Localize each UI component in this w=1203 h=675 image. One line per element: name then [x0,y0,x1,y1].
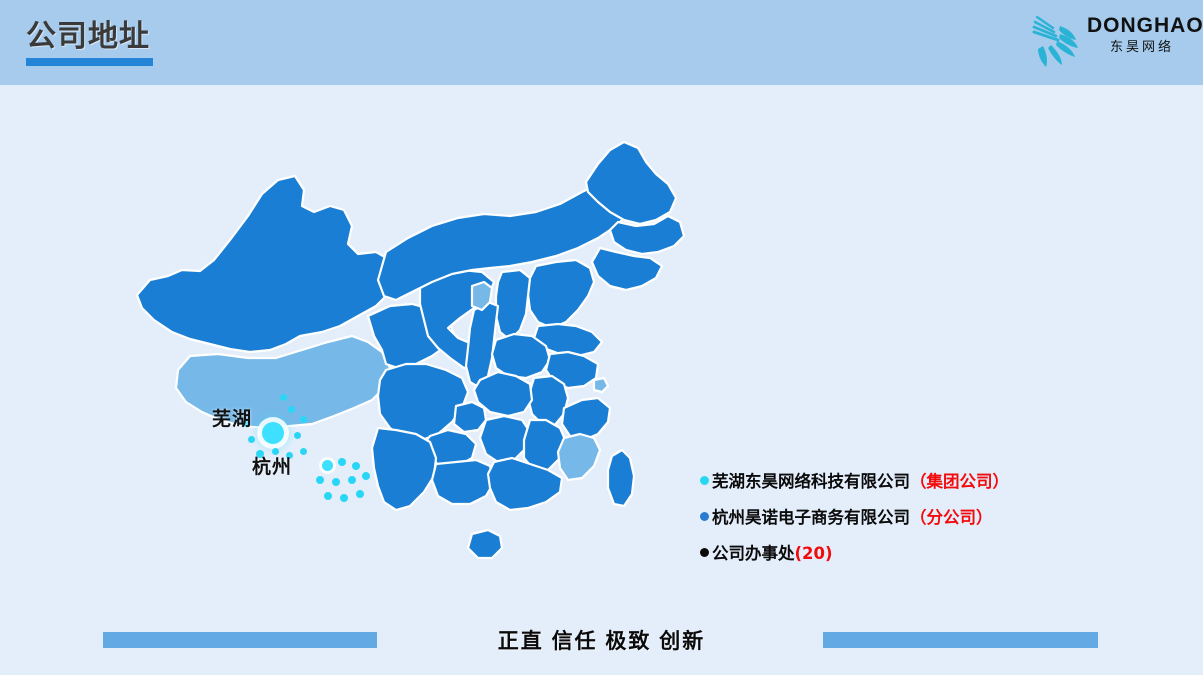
marker-office[interactable] [352,462,360,470]
logo-text: DONGHAO 东昊网络 [1087,14,1197,56]
page-header: 公司地址 DONGHAO [0,0,1203,85]
marker-office[interactable] [324,492,332,500]
marker-office[interactable] [356,490,364,498]
province-zhejiang [562,398,610,440]
province-hebei [528,260,594,328]
logo-chinese-name: 东昊网络 [1087,38,1197,56]
china-map-svg [90,120,710,620]
marker-office[interactable] [300,416,307,423]
province-fujian [558,434,600,480]
legend-bullet-icon [700,548,709,557]
province-hainan [468,530,502,558]
province-xinjiang [137,176,400,352]
title-underline [26,58,153,66]
marker-wuhu-headquarters[interactable] [262,422,284,444]
legend-item-group-company: 芜湖东昊网络科技有限公司（集团公司） [700,462,1120,498]
page-title: 公司地址 [26,19,153,55]
city-label-wuhu: 芜湖 [212,404,252,431]
legend-label: 杭州昊诺电子商务有限公司（分公司） [712,504,993,528]
legend: 芜湖东昊网络科技有限公司（集团公司） 杭州昊诺电子商务有限公司（分公司） 公司办… [700,462,1120,570]
marker-office[interactable] [348,476,356,484]
province-taiwan [608,450,634,506]
page-title-wrap: 公司地址 [26,19,153,66]
marker-office[interactable] [340,494,348,502]
province-shanxi [496,270,530,340]
marker-office[interactable] [300,448,307,455]
legend-bullet-icon [700,476,709,485]
legend-item-offices: 公司办事处(20) [700,534,1120,570]
marker-office[interactable] [248,436,255,443]
legend-label: 公司办事处(20) [712,540,833,564]
china-map: 芜湖 杭州 [90,120,710,620]
marker-office[interactable] [316,476,324,484]
province-hunan [480,416,530,462]
marker-office[interactable] [288,406,295,413]
marker-office[interactable] [280,394,287,401]
legend-label: 芜湖东昊网络科技有限公司（集团公司） [712,468,1009,492]
marker-office[interactable] [294,432,301,439]
province-tibet [176,336,390,428]
fan-feather-logo-icon [1023,10,1085,68]
province-yunnan [372,428,436,510]
province-liaoning [592,248,662,290]
city-label-hangzhou: 杭州 [252,452,292,479]
company-logo: DONGHAO 东昊网络 [1023,8,1193,70]
province-guangxi [432,460,494,504]
province-chongqing [454,402,486,432]
marker-office[interactable] [338,458,346,466]
logo-english-name: DONGHAO [1087,14,1197,38]
province-shanghai [594,378,608,392]
marker-office[interactable] [362,472,370,480]
marker-hangzhou-branch[interactable] [322,460,333,471]
marker-office[interactable] [332,478,340,486]
footer-slogan: 正直 信任 极致 创新 [0,625,1203,655]
legend-item-branch-company: 杭州昊诺电子商务有限公司（分公司） [700,498,1120,534]
legend-bullet-icon [700,512,709,521]
